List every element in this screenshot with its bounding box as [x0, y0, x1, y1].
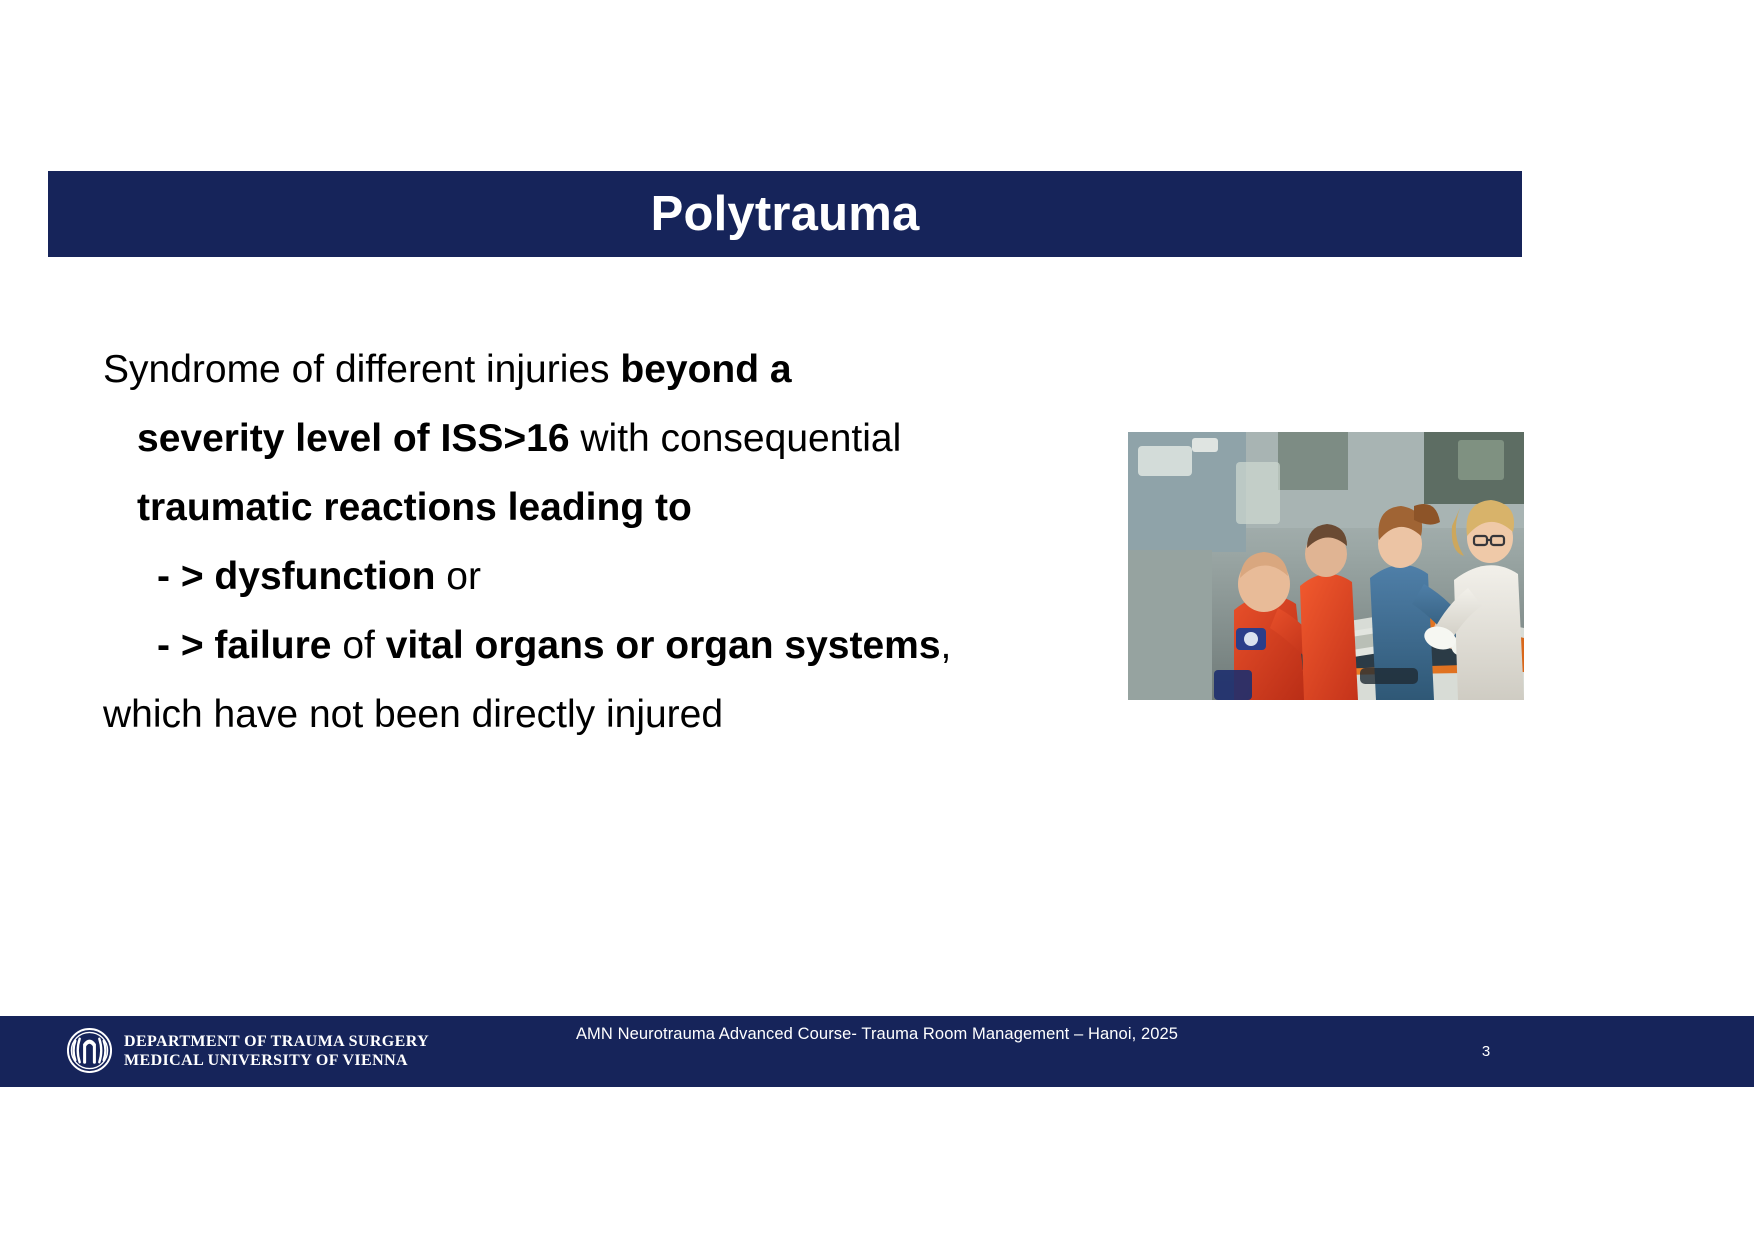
body-line-1: Syndrome of different injuries beyond a [103, 335, 1093, 404]
slide-page-number: 3 [1466, 1043, 1506, 1060]
body-line-5-segment-3: vital organs or organ systems [386, 624, 941, 667]
body-line-5-segment-4: , [941, 624, 952, 667]
body-line-6-segment-1: which have not been directly injured [103, 693, 723, 736]
title-bar: Polytrauma [48, 171, 1522, 257]
slide: Polytrauma Syndrome of different injurie… [0, 0, 1754, 1241]
body-line-5-segment-2: of [331, 624, 385, 667]
footer-course-text: AMN Neurotrauma Advanced Course- Trauma … [0, 1025, 1754, 1044]
footer-logo-line2: MEDICAL UNIVERSITY OF VIENNA [124, 1052, 408, 1069]
body-line-3-segment-1: traumatic reactions leading to [137, 486, 692, 529]
trauma-room-photo-graphic [1128, 432, 1524, 700]
body-line-1-segment-1: Syndrome of different injuries [103, 348, 620, 391]
body-line-4-segment-1: - > dysfunction [157, 555, 435, 598]
page-title: Polytrauma [651, 190, 920, 239]
body-line-6: which have not been directly injured [103, 680, 1093, 749]
trauma-room-photo [1128, 432, 1524, 700]
body-line-4-segment-2: or [435, 555, 481, 598]
body-line-2: severity level of ISS>16 with consequent… [103, 404, 1093, 473]
body-line-2-segment-1: severity level of ISS>16 [137, 417, 570, 460]
body-line-2-segment-2: with consequential [570, 417, 902, 460]
body-line-4: - > dysfunction or [103, 542, 1093, 611]
body-line-5: - > failure of vital organs or organ sys… [103, 611, 1093, 680]
body-line-1-segment-2: beyond a [620, 348, 791, 391]
body-text-block: Syndrome of different injuries beyond as… [103, 335, 1093, 749]
body-line-3: traumatic reactions leading to [103, 473, 1093, 542]
body-line-5-segment-1: - > failure [157, 624, 331, 667]
